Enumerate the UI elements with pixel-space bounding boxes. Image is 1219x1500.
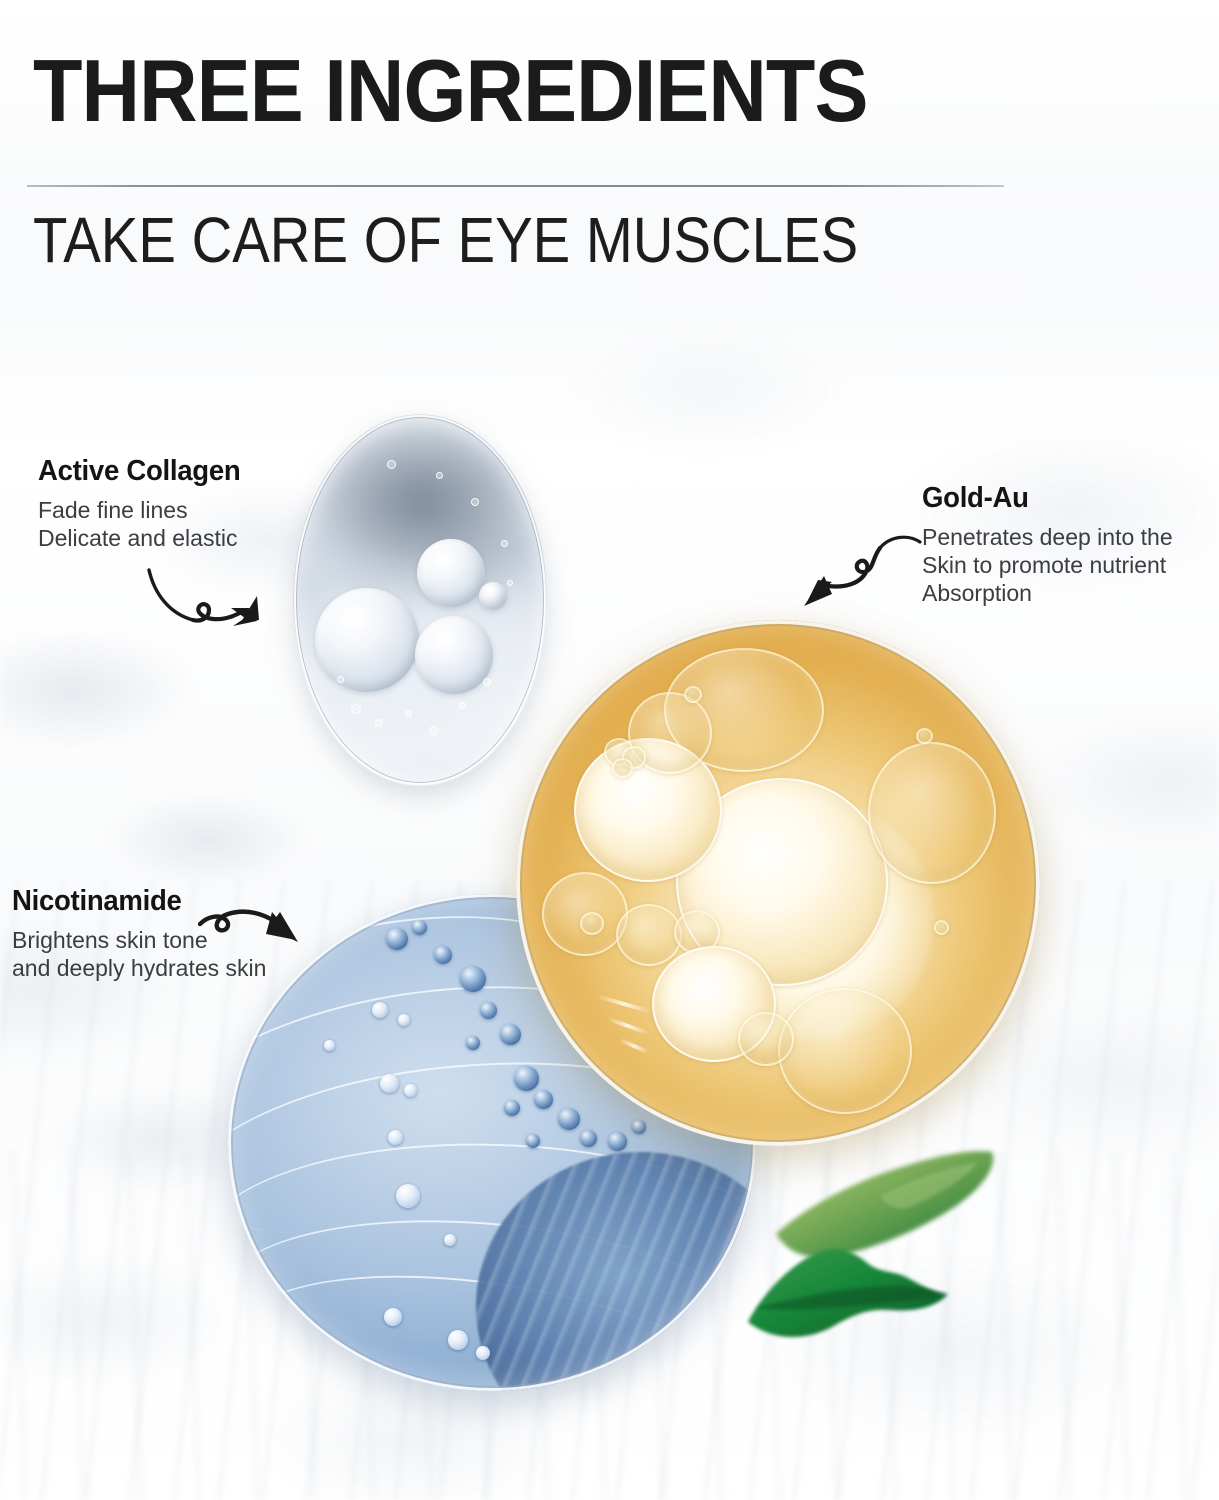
- ingredient-gold-au: Gold-Au Penetrates deep into the Skin to…: [922, 482, 1173, 607]
- gold-serum-petri-dish: [516, 620, 1040, 1146]
- page-headline: THREE INGREDIENTS: [33, 47, 868, 135]
- ingredients-infographic: THREE INGREDIENTS TAKE CARE OF EYE MUSCL…: [0, 0, 1219, 1500]
- curly-arrow-right-icon: [145, 566, 285, 646]
- dish-rim: [516, 620, 1040, 1146]
- green-algae-leaf: [730, 1122, 1030, 1392]
- curly-arrow-down-left-icon: [788, 532, 928, 622]
- clear-gel-petri-dish: [293, 414, 547, 786]
- curly-arrow-down-right-icon: [198, 898, 318, 970]
- ingredient-description: Penetrates deep into the Skin to promote…: [922, 523, 1173, 607]
- dish-rim: [294, 415, 546, 785]
- ingredient-title: Active Collagen: [38, 455, 240, 488]
- ingredient-active-collagen: Active Collagen Fade fine lines Delicate…: [38, 455, 251, 552]
- ingredient-description: Fade fine lines Delicate and elastic: [38, 496, 251, 552]
- page-subheadline: TAKE CARE OF EYE MUSCLES: [33, 208, 858, 272]
- ingredient-title: Gold-Au: [922, 482, 1160, 515]
- header-divider: [27, 185, 1004, 187]
